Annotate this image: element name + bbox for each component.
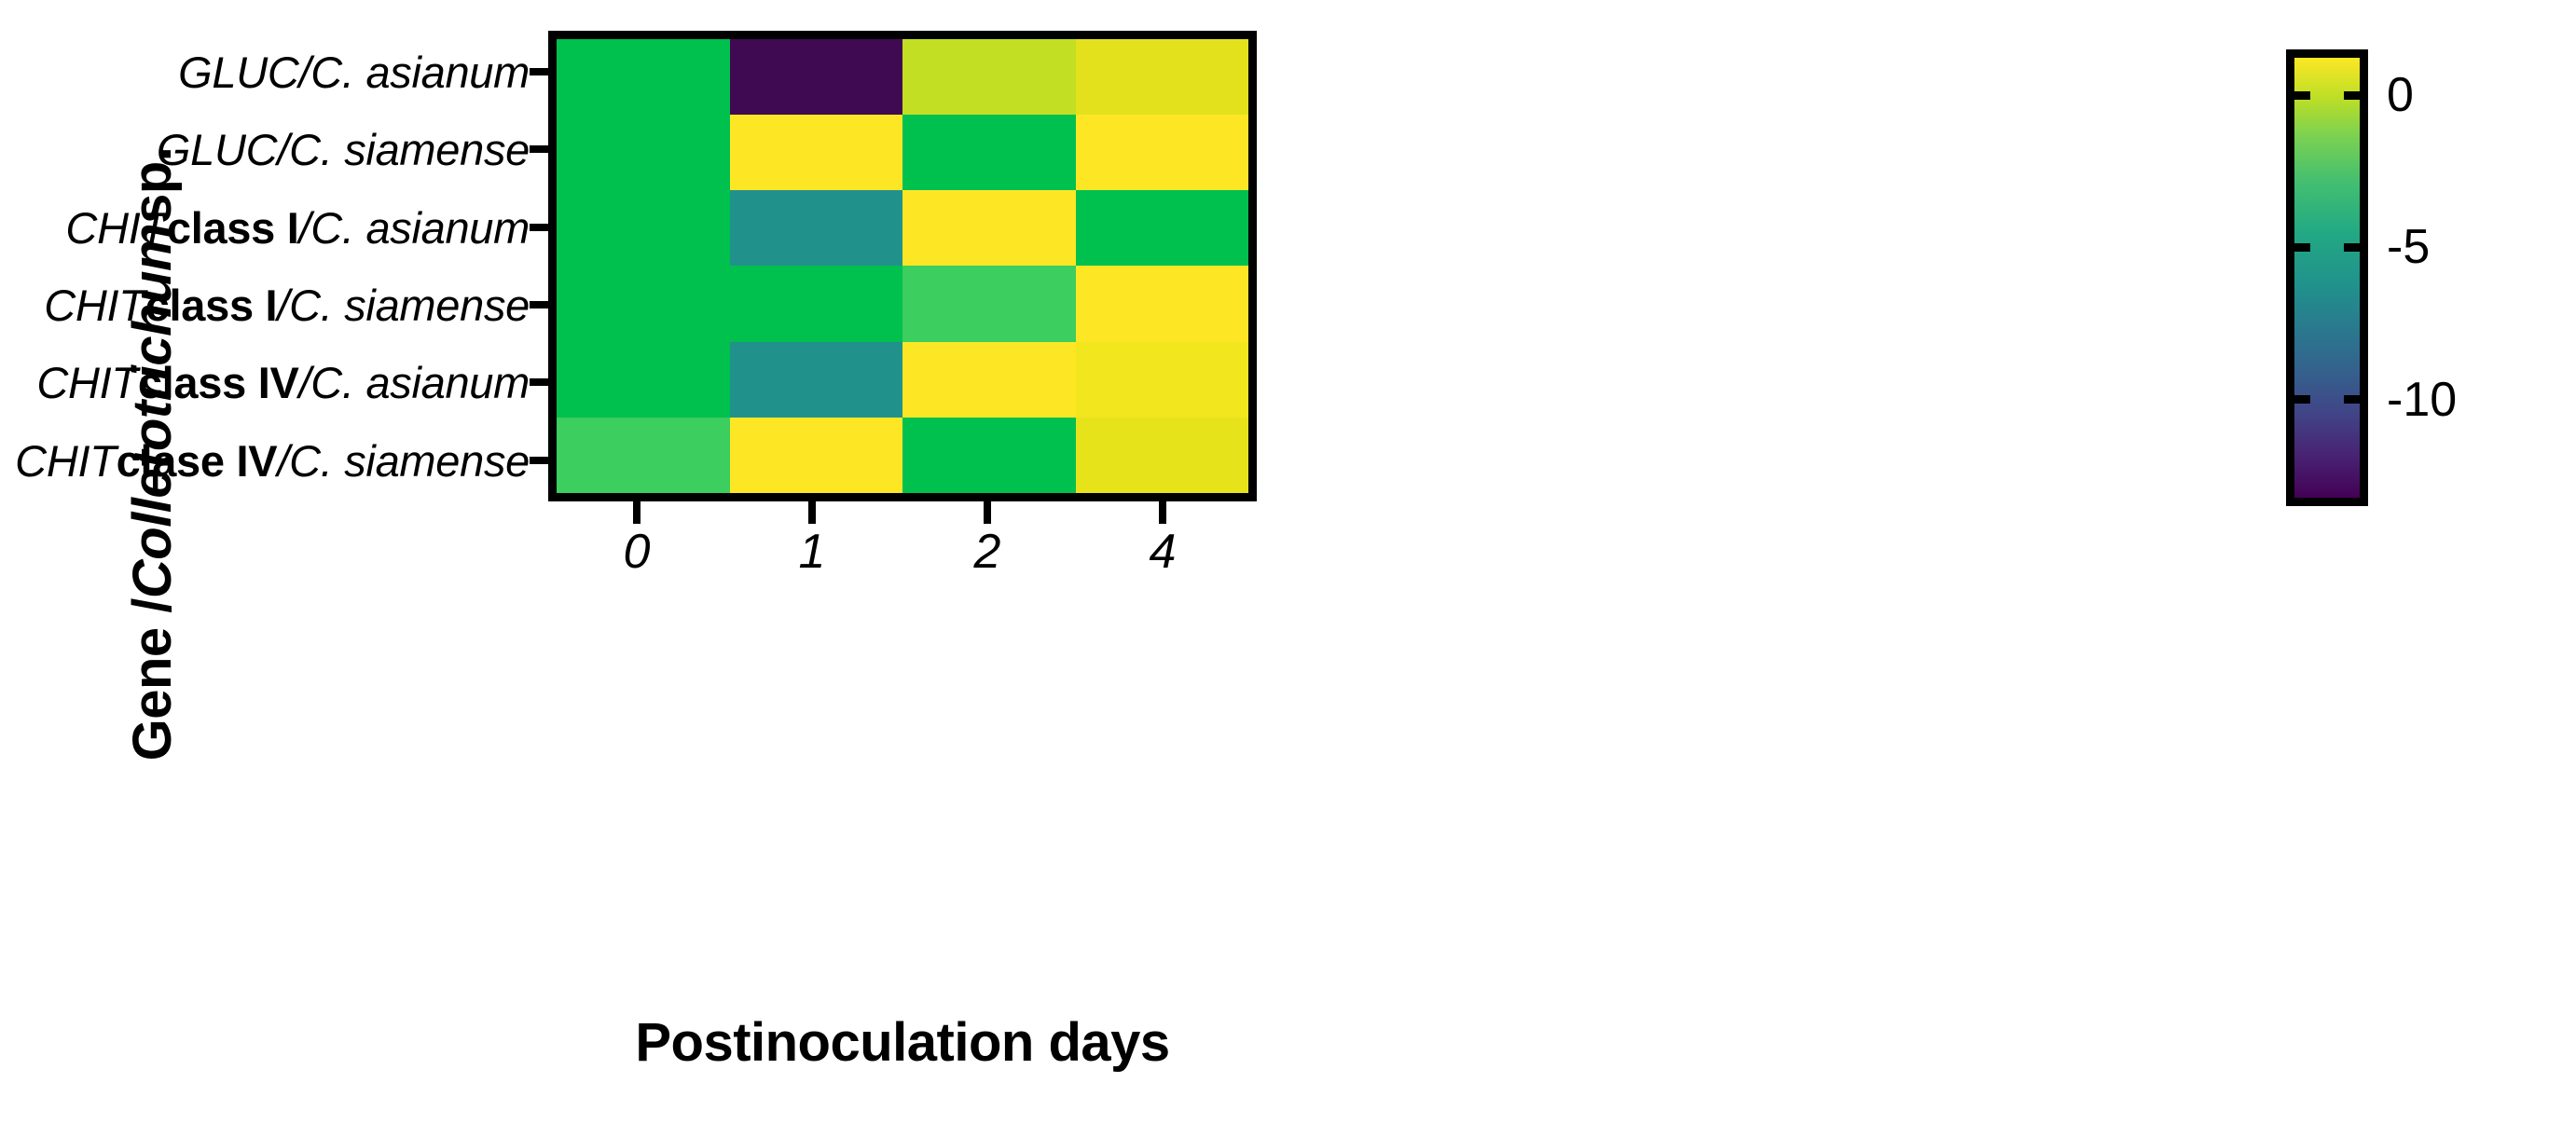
heatmap-figure: Gene / Colletotrichum sp. GLUC / C. asia… [0, 0, 2576, 1138]
x-tick-0 [633, 501, 641, 524]
row-label-class: class I [145, 280, 278, 331]
colorbar-tick-label: -10 [2387, 372, 2457, 428]
x-tick-2 [984, 501, 991, 524]
heatmap-cell [902, 39, 1076, 115]
row-label-class: class IV [138, 357, 299, 408]
heatmap-cell [1076, 418, 1249, 493]
y-axis-title-prefix: Gene / [121, 598, 184, 761]
colorbar-tick-mark [2344, 395, 2368, 404]
row-label-gluc-asianum: GLUC / C. asianum [178, 34, 530, 111]
y-tick-3 [530, 301, 550, 308]
row-label-class: class I [167, 202, 299, 254]
colorbar-tick-mark [2286, 243, 2310, 252]
row-label-species: C. siamense [289, 124, 530, 175]
y-tick-4 [530, 378, 550, 386]
heatmap-cell [730, 115, 903, 190]
heatmap-cell [1076, 190, 1249, 266]
row-label-species: C. asianum [310, 202, 530, 254]
heatmap-cell [730, 39, 903, 115]
row-label-separator: / [277, 124, 289, 175]
heatmap-cell [902, 115, 1076, 190]
row-label-class: clase IV [117, 435, 278, 487]
x-tick-label-3: 4 [1074, 524, 1251, 580]
heatmap-plot-area [548, 31, 1257, 501]
row-label-chit-class4-siamense: CHIT clase IV / C. siamense [15, 422, 530, 500]
heatmap-cell [902, 190, 1076, 266]
heatmap-cell [557, 190, 730, 266]
heatmap-cell [730, 418, 903, 493]
heatmap-cell [902, 418, 1076, 493]
colorbar-tick-mark [2344, 91, 2368, 100]
x-tick-label-0: 0 [548, 524, 725, 580]
heatmap-cell [902, 342, 1076, 418]
heatmap-cell [557, 39, 730, 115]
row-label-gene: CHIT [36, 357, 137, 408]
colorbar-tick-mark [2286, 395, 2310, 404]
row-label-species: C. siamense [289, 435, 530, 487]
x-tick-label-1: 1 [723, 524, 901, 580]
row-label-separator: / [299, 202, 311, 254]
row-label-gene: CHIT [44, 280, 145, 331]
heatmap-cell [1076, 39, 1249, 115]
x-tick-label-2: 2 [899, 524, 1076, 580]
heatmap-cell [1076, 342, 1249, 418]
heatmap-cell [902, 266, 1076, 341]
y-tick-0 [530, 68, 550, 75]
row-label-separator: / [299, 357, 311, 408]
colorbar-tick-mark [2286, 91, 2310, 100]
heatmap-cell [557, 342, 730, 418]
heatmap-cell [730, 190, 903, 266]
row-label-list: GLUC / C. asianum GLUC / C. siamense CHI… [112, 34, 530, 500]
colorbar-gradient [2286, 49, 2368, 506]
colorbar-tick-label: 0 [2387, 67, 2414, 123]
y-tick-2 [530, 224, 550, 231]
row-label-gene: CHIT [15, 435, 116, 487]
colorbar-tick-mark [2344, 243, 2368, 252]
heatmap-cell [1076, 266, 1249, 341]
row-label-species: C. asianum [310, 47, 530, 98]
row-label-gene: GLUC [178, 47, 298, 98]
row-label-gluc-siamense: GLUC / C. siamense [157, 111, 530, 188]
x-axis-title: Postinoculation days [548, 1011, 1257, 1074]
heatmap-cell [730, 342, 903, 418]
row-label-chit-class1-asianum: CHIT class I / C. asianum [65, 189, 530, 267]
row-label-gene: CHIT [65, 202, 166, 254]
heatmap-cell [557, 418, 730, 493]
row-label-chit-class4-asianum: CHIT class IV / C. asianum [36, 344, 530, 421]
colorbar-tick-label: -5 [2387, 219, 2430, 275]
row-label-species: C. asianum [310, 357, 530, 408]
row-label-chit-class1-siamense: CHIT class I / C. siamense [44, 267, 530, 344]
row-label-separator: / [299, 47, 311, 98]
heatmap-grid [557, 39, 1248, 493]
colorbar: 0-5-10 [2286, 49, 2368, 506]
heatmap-cell [557, 115, 730, 190]
heatmap-cell [1076, 115, 1249, 190]
row-label-species: C. siamense [289, 280, 530, 331]
heatmap-cell [730, 266, 903, 341]
y-tick-5 [530, 457, 550, 464]
row-label-separator: / [277, 435, 289, 487]
row-label-gene: GLUC [157, 124, 277, 175]
x-tick-3 [1159, 501, 1166, 524]
y-tick-1 [530, 145, 550, 153]
row-label-separator: / [277, 280, 289, 331]
x-tick-1 [808, 501, 816, 524]
heatmap-cell [557, 266, 730, 341]
